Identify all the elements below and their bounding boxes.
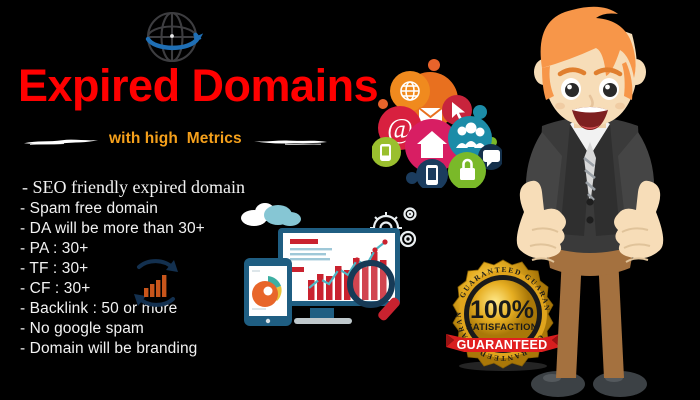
subtitle-text: with high Metrics bbox=[109, 130, 242, 148]
mobile-phone-icon bbox=[426, 165, 438, 185]
list-item: - Domain will be branding bbox=[10, 339, 290, 359]
brush-stroke-right-icon bbox=[251, 134, 329, 144]
expired-domains-banner: Expired Domains with high Metrics - SEO … bbox=[0, 0, 700, 400]
subtitle-row: with high Metrics bbox=[22, 126, 342, 152]
seo-refresh-bars-icon bbox=[124, 252, 188, 314]
battery-device-icon bbox=[380, 144, 391, 161]
businessman-thumbs-up bbox=[480, 6, 700, 400]
seo-analytics-illustration bbox=[238, 196, 424, 338]
cloud-icon bbox=[241, 203, 301, 226]
brush-stroke-left-icon bbox=[22, 134, 100, 144]
page-title: Expired Domains bbox=[18, 60, 378, 112]
